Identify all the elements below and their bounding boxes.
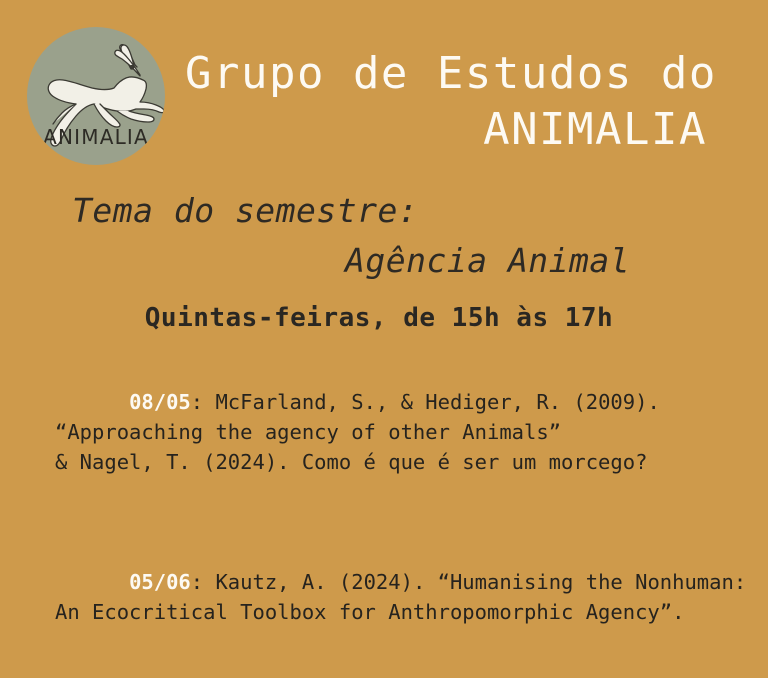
title-line-primary: Grupo de Estudos do [175, 46, 755, 102]
theme-value: Agência Animal [0, 236, 768, 286]
semester-theme: Tema do semestre: Agência Animal [0, 186, 768, 286]
leaping-hare-icon: ANIMALIA [27, 27, 165, 165]
session-item: 08/05: McFarland, S., & Hediger, R. (200… [55, 357, 755, 507]
poster-header: ANIMALIA Grupo de Estudos do ANIMALIA [0, 0, 768, 180]
session-item: 05/06: Kautz, A. (2024). “Humanising the… [55, 537, 755, 657]
session-date: 05/06 [129, 570, 191, 594]
animalia-logo: ANIMALIA [27, 27, 165, 165]
session-separator: : [191, 390, 216, 414]
title-line-secondary: ANIMALIA [175, 102, 755, 158]
theme-label: Tema do semestre: [0, 186, 768, 236]
session-date: 08/05 [129, 390, 191, 414]
poster-canvas: ANIMALIA Grupo de Estudos do ANIMALIA Te… [0, 0, 768, 678]
logo-wordmark: ANIMALIA [43, 125, 149, 149]
session-list: 08/05: McFarland, S., & Hediger, R. (200… [55, 357, 755, 678]
session-separator: : [191, 570, 216, 594]
page-title: Grupo de Estudos do ANIMALIA [175, 46, 755, 158]
schedule-line: Quintas-feiras, de 15h às 17h [0, 303, 768, 333]
